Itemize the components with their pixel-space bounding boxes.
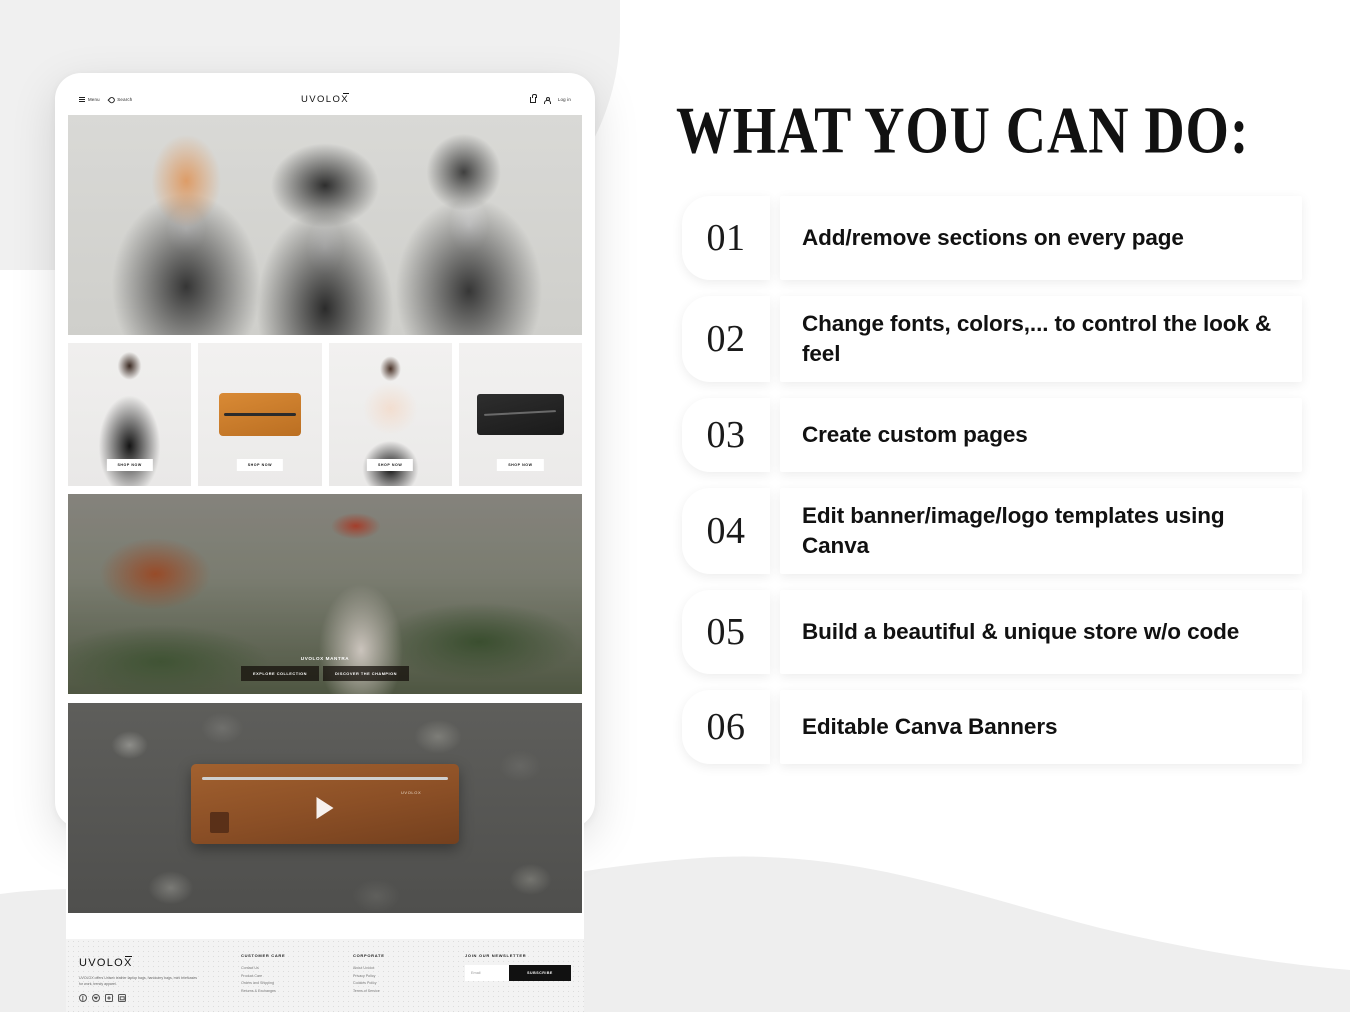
list-item-text: Change fonts, colors,... to control the … — [802, 309, 1280, 369]
list-item[interactable]: 02 Change fonts, colors,... to control t… — [682, 296, 1302, 382]
features-panel: WHAT YOU CAN DO: 01 Add/remove sections … — [660, 0, 1350, 1012]
explore-collection-button[interactable]: EXPLORE COLLECTION — [241, 666, 319, 681]
twitter-icon[interactable] — [92, 994, 100, 1002]
list-item-number: 02 — [707, 317, 746, 361]
footer-tagline: UVOLOX offers Unisex leather laptop bags… — [79, 975, 199, 987]
footer-logo-macron-accent — [125, 956, 132, 957]
footer-link[interactable]: Cookies Policy — [353, 980, 453, 988]
list-item-number: 06 — [707, 705, 746, 749]
list-item-text: Editable Canva Banners — [802, 712, 1057, 742]
footer-link[interactable]: Orders and Shipping — [241, 980, 341, 988]
shop-now-button[interactable]: SHOP NOW — [106, 459, 152, 471]
list-item[interactable]: 04 Edit banner/image/logo templates usin… — [682, 488, 1302, 574]
page-title: WHAT YOU CAN DO: — [676, 92, 1249, 169]
instagram-icon[interactable] — [105, 994, 113, 1002]
footer-column-heading: CUSTOMER CARE — [241, 953, 341, 958]
footer-column-corporate: CORPORATE About Uvolox Privacy Policy Co… — [353, 953, 453, 1002]
feature-list: 01 Add/remove sections on every page 02 … — [682, 196, 1302, 780]
list-item-text-card: Change fonts, colors,... to control the … — [780, 296, 1302, 382]
user-account-icon[interactable] — [544, 97, 550, 103]
product-card[interactable]: SHOP NOW — [68, 343, 191, 486]
list-item-text-card: Add/remove sections on every page — [780, 196, 1302, 280]
list-item-text-card: Editable Canva Banners — [780, 690, 1302, 764]
nav-menu-label: Menu — [88, 97, 100, 102]
list-item-number: 05 — [707, 610, 746, 654]
footer-link[interactable]: Terms of Service — [353, 988, 453, 996]
product-card[interactable]: SHOP NOW — [329, 343, 452, 486]
footer-column-customer-care: CUSTOMER CARE Contact Us Product Care Or… — [241, 953, 341, 1002]
newsletter-subscribe-button[interactable]: SUBSCRIBE — [509, 965, 571, 981]
list-item-text-card: Build a beautiful & unique store w/o cod… — [780, 590, 1302, 674]
hero-banner-image — [68, 115, 582, 335]
shop-now-button[interactable]: SHOP NOW — [237, 459, 283, 471]
list-item[interactable]: 06 Editable Canva Banners — [682, 690, 1302, 764]
list-item-text: Add/remove sections on every page — [802, 223, 1184, 253]
store-brand-logo[interactable]: UVOLOX — [301, 94, 349, 105]
list-item-number-card: 03 — [682, 398, 770, 472]
footer-brand-logo: UVOLOX — [79, 957, 133, 969]
product-bag-image — [219, 393, 300, 436]
video-section[interactable]: UVOLOX — [68, 703, 582, 913]
footer-link[interactable]: Product Care — [241, 973, 341, 981]
footer-brand-text: UVOLOX — [79, 957, 133, 969]
footer-link[interactable]: Contact Us — [241, 965, 341, 973]
list-item-text-card: Create custom pages — [780, 398, 1302, 472]
shopping-cart-icon[interactable] — [530, 97, 536, 103]
store-brand-text: UVOLOX — [301, 94, 349, 105]
tablet-screen: Menu Search UVOLOX Log in SHOP N — [66, 84, 584, 1012]
list-item[interactable]: 01 Add/remove sections on every page — [682, 196, 1302, 280]
footer-link[interactable]: About Uvolox — [353, 965, 453, 973]
footer-newsletter: JOIN OUR NEWSLETTER Email SUBSCRIBE — [465, 953, 571, 1002]
list-item-text-card: Edit banner/image/logo templates using C… — [780, 488, 1302, 574]
list-item-number: 03 — [707, 413, 746, 457]
list-item-number-card: 05 — [682, 590, 770, 674]
mantra-banner-section: UVOLOX MANTRA EXPLORE COLLECTION DISCOVE… — [68, 494, 582, 694]
list-item-number: 01 — [707, 216, 746, 260]
nav-login-link[interactable]: Log in — [558, 97, 571, 102]
logo-macron-accent — [343, 93, 349, 94]
hamburger-menu-icon — [79, 97, 85, 102]
bag-leather-tab — [210, 812, 229, 833]
list-item-text: Create custom pages — [802, 420, 1028, 450]
store-website-preview: Menu Search UVOLOX Log in SHOP N — [66, 84, 584, 1012]
nav-menu-button[interactable]: Menu — [79, 97, 100, 102]
footer-link[interactable]: Returns & Exchanges — [241, 988, 341, 996]
shop-now-button[interactable]: SHOP NOW — [367, 459, 413, 471]
list-item-text: Edit banner/image/logo templates using C… — [802, 501, 1280, 561]
search-icon — [108, 96, 116, 104]
list-item-number: 04 — [707, 509, 746, 553]
discover-champion-button[interactable]: DISCOVER THE CHAMPION — [323, 666, 409, 681]
facebook-icon[interactable] — [79, 994, 87, 1002]
list-item-number-card: 04 — [682, 488, 770, 574]
email-icon[interactable] — [118, 994, 126, 1002]
newsletter-heading: JOIN OUR NEWSLETTER — [465, 953, 571, 958]
product-card-grid: SHOP NOW SHOP NOW SHOP NOW SHOP NOW — [66, 335, 584, 494]
shop-now-button[interactable]: SHOP NOW — [497, 459, 543, 471]
nav-search-label: Search — [117, 97, 132, 102]
play-button-icon[interactable] — [317, 797, 334, 819]
footer-column-heading: CORPORATE — [353, 953, 453, 958]
bag-zipper — [202, 777, 448, 780]
nav-search-button[interactable]: Search — [109, 97, 133, 103]
list-item[interactable]: 03 Create custom pages — [682, 398, 1302, 472]
store-footer: UVOLOX UVOLOX offers Unisex leather lapt… — [66, 939, 584, 1012]
footer-link[interactable]: Privacy Policy — [353, 973, 453, 981]
list-item-number-card: 01 — [682, 196, 770, 280]
footer-social-links — [79, 994, 229, 1002]
list-item-number-card: 06 — [682, 690, 770, 764]
product-bag-image — [477, 394, 563, 434]
list-item-number-card: 02 — [682, 296, 770, 382]
list-item-text: Build a beautiful & unique store w/o cod… — [802, 617, 1239, 647]
product-card[interactable]: SHOP NOW — [459, 343, 582, 486]
product-card[interactable]: SHOP NOW — [198, 343, 321, 486]
bag-brand-label: UVOLOX — [401, 790, 421, 795]
banner-title: UVOLOX MANTRA — [68, 656, 582, 661]
store-navbar: Menu Search UVOLOX Log in — [66, 84, 584, 115]
newsletter-email-input[interactable]: Email — [465, 965, 509, 981]
list-item[interactable]: 05 Build a beautiful & unique store w/o … — [682, 590, 1302, 674]
